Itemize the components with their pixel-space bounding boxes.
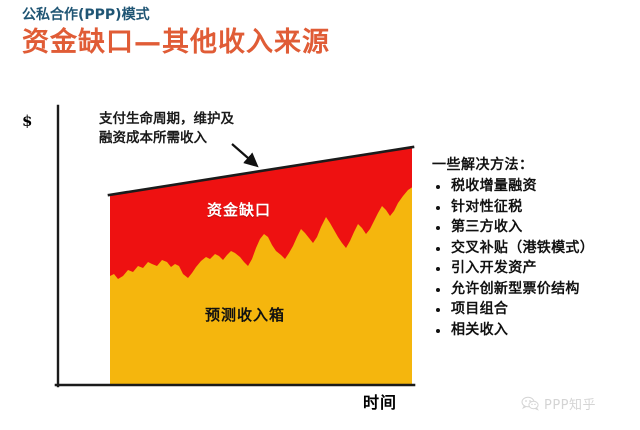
header-subtitle: 公私合作(PPP)模式 xyxy=(22,6,622,24)
funding-gap-label: 资金缺口 xyxy=(207,199,271,220)
solutions-list: 税收增量融资 针对性征税 第三方收入 交叉补贴（港铁模式） 引入开发资产 允许创… xyxy=(432,176,638,340)
solutions-panel: 一些解决方法： 税收增量融资 针对性征税 第三方收入 交叉补贴（港铁模式） 引入… xyxy=(432,156,638,340)
forecast-revenue-label: 预测收入箱 xyxy=(205,304,285,325)
solutions-title: 一些解决方法： xyxy=(432,156,638,175)
page-title: 资金缺口—其他收入来源 xyxy=(22,26,622,60)
watermark: PPP知乎 xyxy=(521,394,596,413)
list-item: 引入开发资产 xyxy=(432,258,638,279)
list-item: 项目组合 xyxy=(432,299,638,320)
list-item: 交叉补贴（港铁模式） xyxy=(432,238,638,259)
header: 公私合作(PPP)模式 资金缺口—其他收入来源 xyxy=(22,6,622,60)
annotation-line-1: 支付生命周期，维护及 xyxy=(99,110,234,129)
x-axis-label: 时间 xyxy=(363,389,397,413)
list-item: 相关收入 xyxy=(432,320,638,341)
list-item: 税收增量融资 xyxy=(432,176,638,197)
annotation-arrow-icon xyxy=(232,144,256,165)
chart-annotation: 支付生命周期，维护及 融资成本所需收入 xyxy=(99,110,234,148)
slide-root: 公私合作(PPP)模式 资金缺口—其他收入来源 xyxy=(0,0,640,430)
list-item: 允许创新型票价结构 xyxy=(432,279,638,300)
watermark-text: PPP知乎 xyxy=(544,394,596,413)
list-item: 针对性征税 xyxy=(432,197,638,218)
y-axis-label: $ xyxy=(22,112,32,130)
wechat-icon xyxy=(521,396,539,411)
list-item: 第三方收入 xyxy=(432,217,638,238)
annotation-line-2: 融资成本所需收入 xyxy=(99,129,234,148)
